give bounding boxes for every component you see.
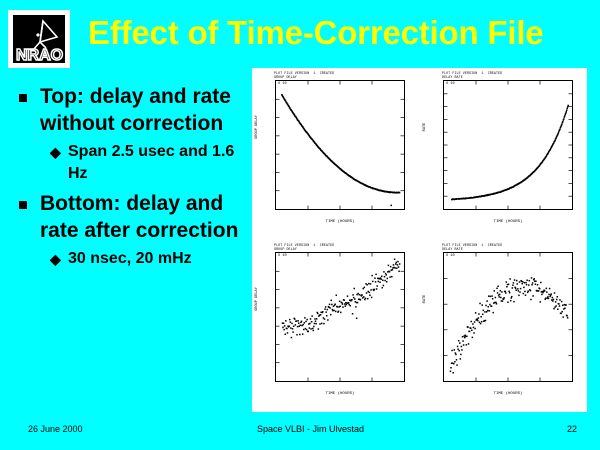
diamond-bullet-icon: ◆: [50, 144, 61, 160]
plot-frame: [275, 80, 405, 210]
footer-page-number: 22: [567, 423, 577, 435]
plot-frame: [443, 252, 573, 382]
slide: NRAO Effect of Time-Correction File Top:…: [0, 0, 600, 450]
diamond-bullet-icon: ◆: [50, 251, 61, 267]
plot-panel-bottom-right: PLOT FILE VERSION 1 CREATED DELAY RATE X…: [420, 240, 587, 412]
plot-xlabel: TIME (HOURS): [275, 392, 405, 396]
radio-telescope-dish-icon: NRAO: [13, 15, 65, 63]
plot-canvas: [444, 81, 572, 209]
plot-header: PLOT FILE VERSION 1 CREATED GROUP DELAY: [274, 243, 334, 251]
square-bullet-icon: [19, 94, 27, 102]
bullet-item-bottom: Bottom: delay and rate after correction: [10, 191, 246, 244]
plot-panel-bottom-left: PLOT FILE VERSION 1 CREATED GROUP DELAY …: [252, 240, 419, 412]
svg-text:NRAO: NRAO: [16, 47, 63, 63]
bullet-text: Top: delay and rate without correction: [40, 85, 231, 135]
plot-ylabel: RATE: [423, 101, 427, 153]
sub-bullet-span: ◆ Span 2.5 usec and 1.6 Hz: [10, 141, 246, 185]
plot-xlabel: TIME (HOURS): [275, 220, 405, 224]
plot-canvas: [276, 253, 404, 381]
plot-xlabel: TIME (HOURS): [443, 392, 573, 396]
sub-bullet-rms: ◆ 30 nsec, 20 mHz: [10, 248, 246, 270]
bullet-list: Top: delay and rate without correction ◆…: [10, 84, 246, 276]
bullet-text: Bottom: delay and rate after correction: [40, 192, 238, 242]
nrao-logo-plate: NRAO: [13, 15, 65, 63]
sub-bullet-text: 30 nsec, 20 mHz: [68, 250, 192, 267]
plot-ylabel: GROUP DELAY: [255, 101, 259, 153]
plot-header: PLOT FILE VERSION 1 CREATED DELAY RATE: [442, 243, 502, 251]
nrao-logo: NRAO: [8, 10, 70, 68]
plot-canvas: [276, 81, 404, 209]
footer-center-text: Space VLBI - Jim Ulvestad: [257, 423, 364, 435]
plot-xlabel: TIME (HOURS): [443, 220, 573, 224]
plot-frame: [275, 252, 405, 382]
sub-bullet-text: Span 2.5 usec and 1.6 Hz: [68, 143, 234, 182]
figure-panel-grid: PLOT FILE VERSION 1 CREATED GROUP DELAY …: [252, 68, 587, 412]
plot-frame: [443, 80, 573, 210]
plot-ylabel: GROUP DELAY: [255, 273, 259, 325]
plot-header: PLOT FILE VERSION 1 CREATED DELAY RATE: [442, 71, 502, 79]
square-bullet-icon: [19, 201, 27, 209]
plot-canvas: [444, 253, 572, 381]
plot-ylabel: RATE: [423, 273, 427, 325]
bullet-item-top: Top: delay and rate without correction: [10, 84, 246, 137]
plot-panel-top-right: PLOT FILE VERSION 1 CREATED DELAY RATE X…: [420, 68, 587, 240]
plot-panel-top-left: PLOT FILE VERSION 1 CREATED GROUP DELAY …: [252, 68, 419, 240]
footer-divider: [252, 411, 587, 412]
footer-date: 26 June 2000: [28, 423, 83, 435]
plot-header: PLOT FILE VERSION 1 CREATED GROUP DELAY: [274, 71, 334, 79]
page-title: Effect of Time-Correction File: [88, 14, 588, 52]
